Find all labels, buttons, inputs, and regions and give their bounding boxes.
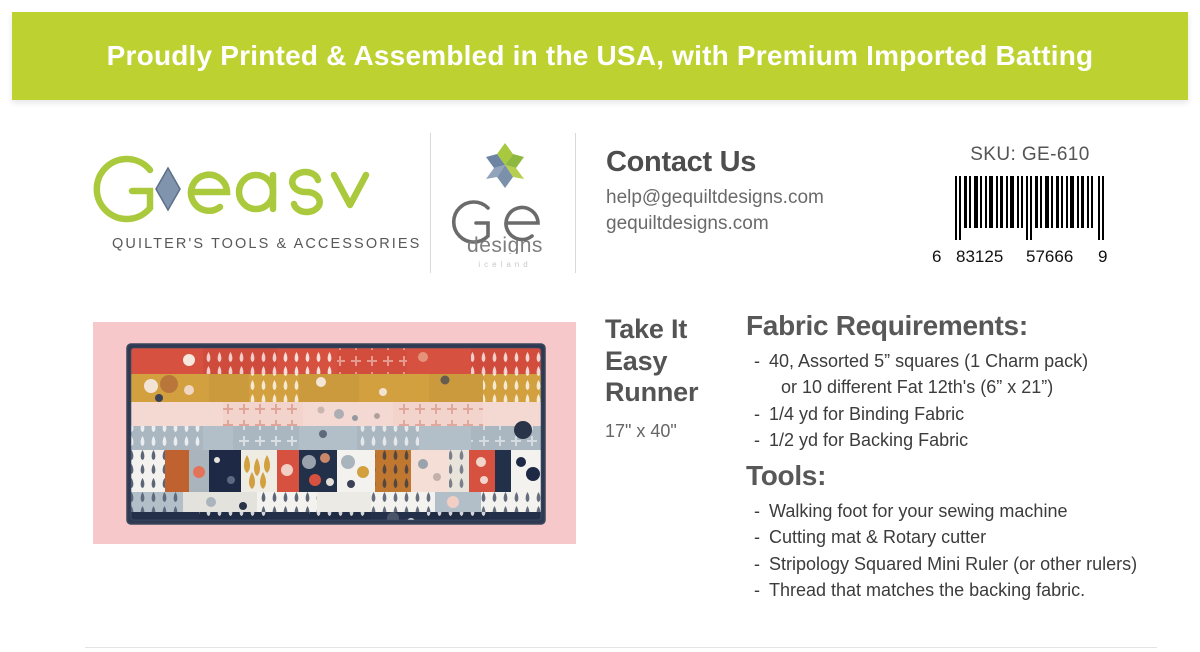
- list-item: 1/2 yd for Backing Fabric: [746, 427, 1176, 453]
- geasy-logo-icon: [88, 150, 400, 228]
- barcode-digits: 6 83125 57666 9: [930, 247, 1130, 267]
- designer-logo-location: iceland: [440, 260, 570, 269]
- product-title: Take It Easy Runner: [605, 314, 730, 409]
- designer-logo[interactable]: designs iceland: [440, 142, 570, 268]
- contact-email[interactable]: help@gequiltdesigns.com: [606, 185, 824, 211]
- promo-banner: Proudly Printed & Assembled in the USA, …: [12, 12, 1188, 100]
- list-item: or 10 different Fat 12th's (6” x 21”): [746, 374, 1176, 400]
- contact-heading: Contact Us: [606, 146, 824, 179]
- product-image: [93, 322, 576, 544]
- header-divider-left: [430, 133, 431, 273]
- contact-website[interactable]: gequiltdesigns.com: [606, 211, 824, 237]
- product-title-block: Take It Easy Runner 17" x 40": [605, 314, 730, 442]
- list-item: Cutting mat & Rotary cutter: [746, 524, 1176, 550]
- ge-wordmark-icon: designs: [446, 192, 564, 254]
- list-item: Walking foot for your sewing machine: [746, 498, 1176, 524]
- six-point-star-icon: [476, 142, 534, 194]
- fabric-requirements-section: Fabric Requirements: 40, Assorted 5” squ…: [746, 310, 1176, 453]
- list-item: Thread that matches the backing fabric.: [746, 577, 1176, 603]
- brand-logo[interactable]: QUILTER'S TOOLS & ACCESSORIES: [88, 150, 400, 260]
- page-root: Proudly Printed & Assembled in the USA, …: [0, 0, 1200, 652]
- product-size: 17" x 40": [605, 421, 730, 442]
- list-item: 1/4 yd for Binding Fabric: [746, 401, 1176, 427]
- upc-barcode-icon: [941, 174, 1119, 246]
- header-divider-right: [575, 133, 576, 273]
- footer-divider: [85, 647, 1157, 648]
- svg-text:designs: designs: [467, 234, 543, 254]
- barcode-group-two: 57666: [1026, 247, 1073, 267]
- tools-list: Walking foot for your sewing machine Cut…: [746, 498, 1176, 603]
- list-item: Stripology Squared Mini Ruler (or other …: [746, 551, 1176, 577]
- tools-heading: Tools:: [746, 460, 1176, 492]
- tools-section: Tools: Walking foot for your sewing mach…: [746, 460, 1176, 603]
- header-bar: QUILTER'S TOOLS & ACCESSORIES: [0, 128, 1200, 276]
- fabric-requirements-heading: Fabric Requirements:: [746, 310, 1176, 342]
- brand-logo-tagline: QUILTER'S TOOLS & ACCESSORIES: [112, 236, 421, 252]
- brand-logo-wordmark: [88, 150, 400, 228]
- contact-block: Contact Us help@gequiltdesigns.com gequi…: [606, 146, 824, 237]
- list-item: 40, Assorted 5” squares (1 Charm pack): [746, 348, 1176, 374]
- promo-banner-text: Proudly Printed & Assembled in the USA, …: [107, 40, 1094, 72]
- barcode-block: SKU: GE-610: [930, 144, 1130, 267]
- fabric-requirements-list: 40, Assorted 5” squares (1 Charm pack) o…: [746, 348, 1176, 453]
- barcode-digit-right: 9: [1098, 247, 1107, 267]
- sku-label: SKU: GE-610: [930, 144, 1130, 166]
- barcode-image: [930, 174, 1130, 246]
- barcode-group-one: 83125: [956, 247, 1003, 267]
- barcode-digit-left: 6: [932, 247, 941, 267]
- quilt-runner-illustration: [93, 322, 576, 544]
